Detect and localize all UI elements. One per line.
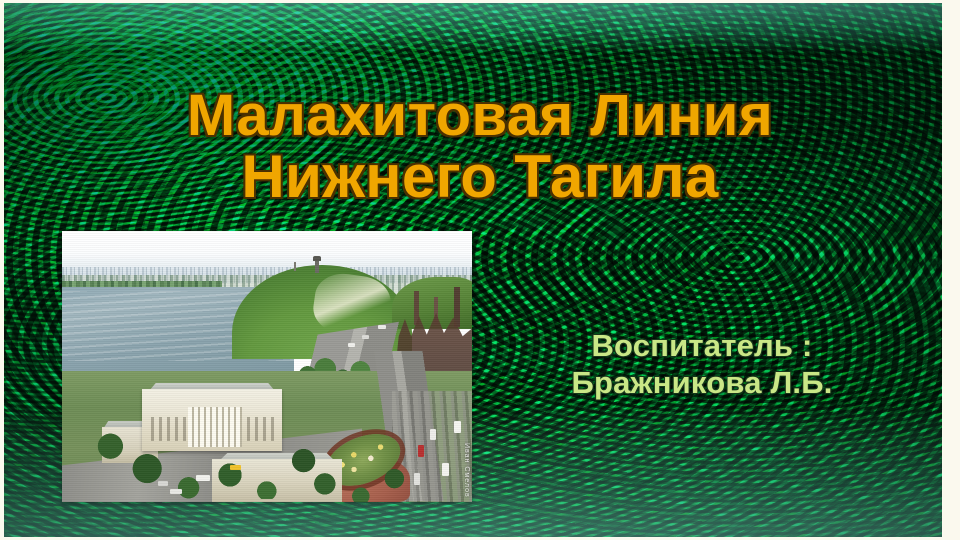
photo-watermark: Иван Смелов xyxy=(463,443,470,498)
subtitle-role-label: Воспитатель : xyxy=(492,328,912,365)
slide-title: Малахитовая Линия Нижнего Тагила xyxy=(0,86,960,208)
title-line-1: Малахитовая Линия xyxy=(0,86,960,146)
title-line-2: Нижнего Тагила xyxy=(0,146,960,208)
city-panorama-photo: Иван Смелов xyxy=(62,231,472,502)
presentation-slide: Малахитовая Линия Нижнего Тагила Воспита… xyxy=(0,0,960,540)
slide-subtitle: Воспитатель : Бражникова Л.Б. xyxy=(492,328,912,401)
photo-grain-overlay xyxy=(62,231,472,502)
subtitle-author-name: Бражникова Л.Б. xyxy=(492,365,912,402)
